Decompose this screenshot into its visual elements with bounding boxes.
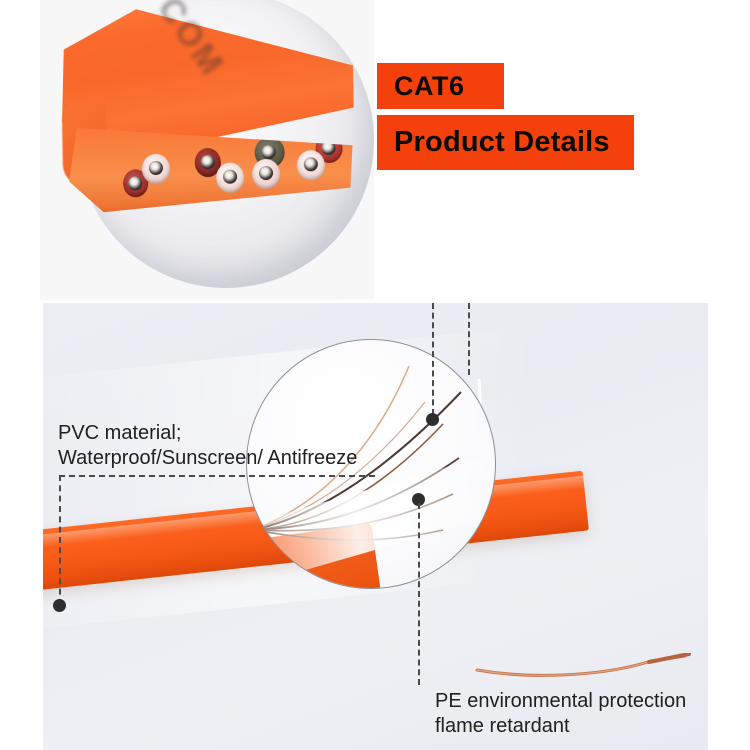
callout-pvc-leader-vertical (59, 475, 61, 605)
callout-pvc-leader-horizontal (59, 475, 375, 477)
banner-cat6: CAT6 (377, 63, 504, 109)
callout-pe: PE environmental protection flame retard… (435, 689, 686, 739)
banner-product-details: Product Details (377, 115, 634, 170)
bottom-photo-panel: PVC material; Waterproof/Sunscreen/ Anti… (43, 303, 708, 750)
cat6-cable-macro-photo: COM (60, 3, 364, 228)
callout-pvc-endpoint-dot (53, 599, 66, 612)
callout-pe-leader-vertical (418, 503, 420, 685)
product-detail-page: COM (0, 0, 750, 750)
magnifier-leader-vertical (468, 303, 470, 375)
callout-pe-line2: flame retardant (435, 714, 686, 739)
callout-pe-line1: PE environmental protection (435, 689, 686, 714)
strand-leader-vertical (432, 303, 434, 415)
callout-pvc: PVC material; Waterproof/Sunscreen/ Anti… (58, 421, 357, 471)
callout-pvc-line1: PVC material; (58, 421, 357, 446)
callout-pvc-line2: Waterproof/Sunscreen/ Antifreeze (58, 446, 357, 471)
top-photo-panel: COM (40, 0, 374, 300)
single-copper-wire (473, 653, 695, 679)
strand-leader-endpoint-dot (426, 413, 439, 426)
